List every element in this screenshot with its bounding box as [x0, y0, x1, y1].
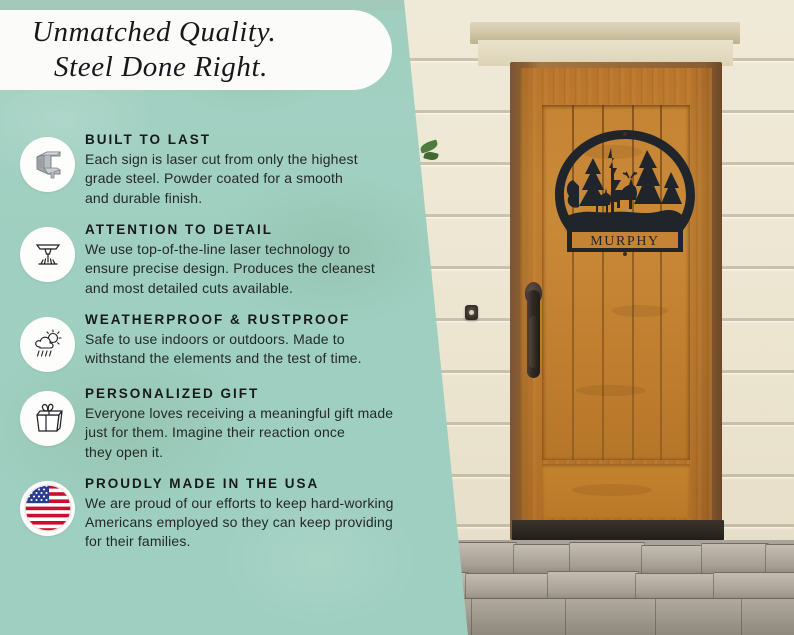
feature-title: ATTENTION TO DETAIL — [85, 222, 470, 237]
product-benefits-infographic: MURPHY — [0, 0, 794, 635]
headline-line-2: Steel Done Right. — [32, 50, 392, 85]
feature-copy: PERSONALIZED GIFT Everyone loves receivi… — [75, 384, 470, 462]
feature-body: Everyone loves receiving a meaningful gi… — [85, 404, 460, 462]
sun-cloud-rain-icon — [31, 327, 65, 361]
metal-monogram-sign: MURPHY — [551, 128, 699, 263]
feature-copy: PROUDLY MADE IN THE USA We are proud of … — [75, 474, 470, 552]
feature-title: WEATHERPROOF & RUSTPROOF — [85, 312, 470, 327]
feature-icon-badge — [20, 391, 75, 446]
steel-i-beam-icon — [31, 148, 65, 182]
feature-item-personalized-gift: PERSONALIZED GIFT Everyone loves receivi… — [0, 384, 470, 462]
feature-copy: WEATHERPROOF & RUSTPROOF Safe to use ind… — [75, 310, 470, 369]
feature-icon-badge — [20, 317, 75, 372]
feature-body: We use top-of-the-line laser technology … — [85, 240, 460, 298]
feature-icon-badge — [20, 481, 75, 536]
feature-body: Safe to use indoors or outdoors. Made to… — [85, 330, 460, 369]
gift-box-icon — [31, 401, 65, 435]
feature-title: BUILT TO LAST — [85, 132, 470, 147]
feature-title: PERSONALIZED GIFT — [85, 386, 470, 401]
feature-icon-badge — [20, 137, 75, 192]
feature-item-attention-to-detail: ATTENTION TO DETAIL We use top-of-the-li… — [0, 220, 470, 298]
feature-icon-badge — [20, 227, 75, 282]
feature-title: PROUDLY MADE IN THE USA — [85, 476, 470, 491]
feature-copy: ATTENTION TO DETAIL We use top-of-the-li… — [75, 220, 470, 298]
feature-item-weatherproof: WEATHERPROOF & RUSTPROOF Safe to use ind… — [0, 310, 470, 372]
door-threshold — [512, 520, 724, 540]
door-handle-grip — [529, 316, 538, 368]
sign-name-text: MURPHY — [590, 234, 660, 249]
feature-body: Each sign is laser cut from only the hig… — [85, 150, 460, 208]
feature-body: We are proud of our efforts to keep hard… — [85, 494, 460, 552]
usa-flag-icon — [23, 483, 73, 533]
headline-line-1: Unmatched Quality. — [32, 15, 392, 50]
feature-copy: BUILT TO LAST Each sign is laser cut fro… — [75, 130, 470, 208]
door-bottom-rail — [542, 464, 690, 518]
laser-cutter-icon — [31, 237, 65, 271]
feature-list: BUILT TO LAST Each sign is laser cut fro… — [0, 130, 470, 564]
feature-item-made-in-usa: PROUDLY MADE IN THE USA We are proud of … — [0, 474, 470, 552]
feature-item-built-to-last: BUILT TO LAST Each sign is laser cut fro… — [0, 130, 470, 208]
headline-pill: Unmatched Quality. Steel Done Right. — [0, 10, 392, 90]
